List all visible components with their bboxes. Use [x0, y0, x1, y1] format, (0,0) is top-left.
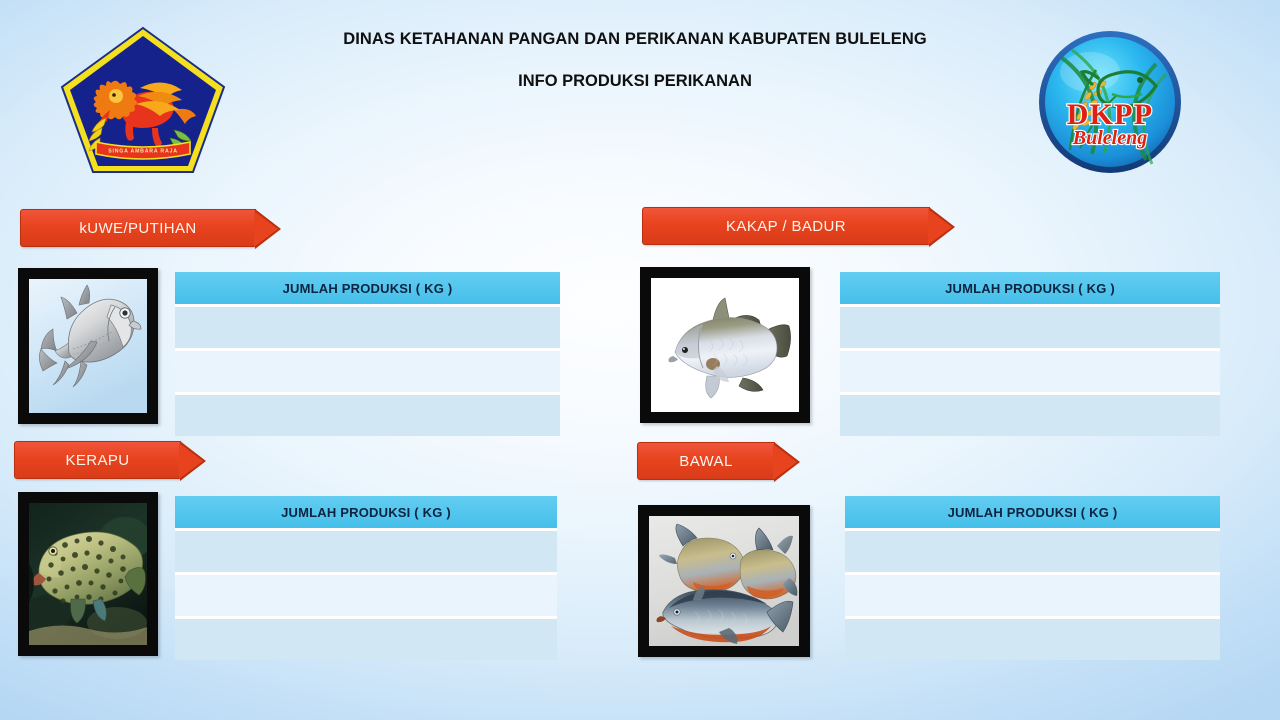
photo-frame-kakap [640, 267, 810, 423]
kuwe-trevally-fish-photo [29, 279, 147, 413]
banner-label: KERAPU [55, 452, 139, 469]
table-row[interactable] [175, 619, 557, 660]
table-row[interactable] [175, 351, 560, 392]
page-title: DINAS KETAHANAN PANGAN DAN PERIKANAN KAB… [240, 28, 1030, 92]
buleleng-regency-crest-icon: SINGA AMBARA RAJA [48, 14, 238, 182]
table-row[interactable] [840, 395, 1220, 436]
table-header-cell: JUMLAH PRODUKSI ( KG ) [175, 272, 560, 304]
production-table-kakap: JUMLAH PRODUKSI ( KG ) [840, 272, 1220, 436]
banner-label: kUWE/PUTIHAN [69, 220, 206, 237]
kakap-barramundi-fish-photo [651, 278, 799, 412]
banner-kakap-badur[interactable]: KAKAP / BADUR [642, 207, 930, 245]
photo-frame-kuwe [18, 268, 158, 424]
table-header-cell: JUMLAH PRODUKSI ( KG ) [845, 496, 1220, 528]
banner-bawal[interactable]: BAWAL [637, 442, 775, 480]
table-header-cell: JUMLAH PRODUKSI ( KG ) [175, 496, 557, 528]
table-row[interactable] [845, 531, 1220, 572]
banner-label: BAWAL [669, 453, 742, 470]
table-row[interactable] [175, 395, 560, 436]
slide-background: SINGA AMBARA RAJA DINAS KETAHANAN PANGAN… [0, 0, 1280, 720]
photo-frame-kerapu [18, 492, 158, 656]
table-row[interactable] [845, 575, 1220, 616]
header: SINGA AMBARA RAJA DINAS KETAHANAN PANGAN… [0, 0, 1280, 185]
photo-frame-bawal [638, 505, 810, 657]
banner-label: KAKAP / BADUR [716, 218, 856, 235]
buleleng-wordmark-text: Buleleng [1072, 127, 1147, 149]
table-row[interactable] [175, 575, 557, 616]
crest-motto-text: SINGA AMBARA RAJA [108, 149, 178, 155]
production-table-kuwe: JUMLAH PRODUKSI ( KG ) [175, 272, 560, 436]
title-line-1: DINAS KETAHANAN PANGAN DAN PERIKANAN KAB… [240, 28, 1030, 50]
banner-kerapu[interactable]: KERAPU [14, 441, 181, 479]
table-row[interactable] [845, 619, 1220, 660]
table-row[interactable] [175, 307, 560, 348]
table-header-cell: JUMLAH PRODUKSI ( KG ) [840, 272, 1220, 304]
table-row[interactable] [840, 307, 1220, 348]
kerapu-grouper-fish-photo [29, 503, 147, 645]
banner-kuwe-putihan[interactable]: kUWE/PUTIHAN [20, 209, 256, 247]
dkpp-buleleng-logo-icon: DKPP Buleleng [1036, 28, 1184, 176]
production-table-kerapu: JUMLAH PRODUKSI ( KG ) [175, 496, 557, 660]
bawal-pomfret-fish-photo [649, 516, 799, 646]
table-row[interactable] [840, 351, 1220, 392]
table-row[interactable] [175, 531, 557, 572]
title-line-2: INFO PRODUKSI PERIKANAN [240, 70, 1030, 92]
production-table-bawal: JUMLAH PRODUKSI ( KG ) [845, 496, 1220, 660]
